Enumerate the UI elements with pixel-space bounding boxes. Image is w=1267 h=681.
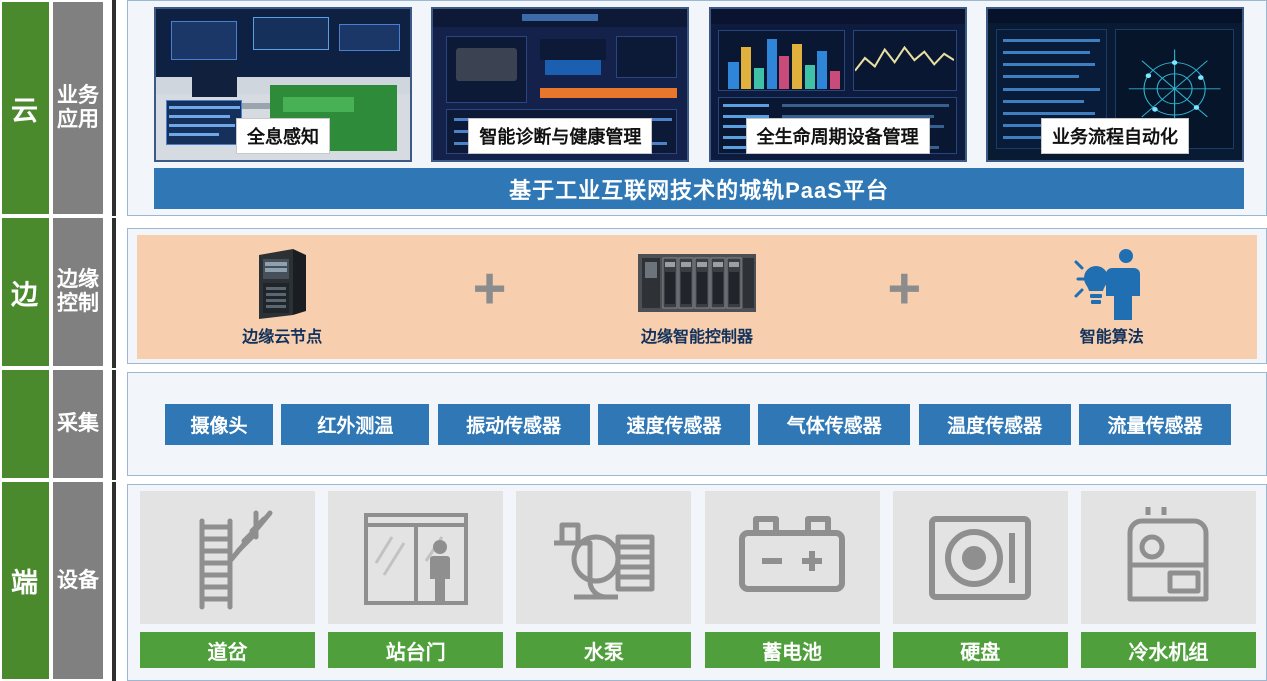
tier-sub-column-device: 设备 (51, 480, 105, 681)
sensor-chip-flow-sensor[interactable]: 流量传感器 (1079, 404, 1231, 445)
spine-bar-collect (112, 370, 116, 480)
tier-sub-column-edge: 边缘控制 (51, 216, 105, 368)
plus-separator-2: + (887, 260, 921, 334)
application-cards: 全息感知 (154, 7, 1244, 162)
sensor-chip-label-speed-sensor: 速度传感器 (626, 416, 721, 437)
device-layer-panel: 道岔 (127, 484, 1267, 681)
plc-module-icon (597, 247, 797, 321)
paas-platform-bar: 基于工业互联网技术的城轨PaaS平台 (154, 168, 1244, 209)
device-label-chiller-unit: 冷水机组 (1081, 632, 1256, 668)
device-cell-water-pump[interactable]: 水泵 (516, 491, 691, 668)
sensor-chip-label-camera: 摄像头 (190, 416, 247, 437)
battery-icon (705, 491, 880, 624)
edge-item-smart-algorithm[interactable]: 智能算法 (1012, 247, 1212, 347)
hard-disk-icon (893, 491, 1068, 624)
device-cells-row: 道岔 (140, 491, 1256, 668)
sensor-chip-label-gas-sensor: 气体传感器 (787, 416, 882, 437)
tier-column-collect (0, 368, 51, 480)
tier-sub-column-cloud: 业务应用 (51, 0, 105, 216)
app-card-label-process-automation: 业务流程自动化 (1041, 118, 1189, 154)
device-label-battery: 蓄电池 (705, 632, 880, 668)
collect-layer-panel: 摄像头 红外测温 振动传感器 速度传感器 气体传感器 温度传感器 流量传感器 (127, 372, 1267, 476)
edge-item-label-edge-controller: 边缘智能控制器 (597, 323, 797, 347)
device-cell-hard-disk[interactable]: 硬盘 (893, 491, 1068, 668)
idea-person-icon (1012, 247, 1212, 321)
device-cell-turnout[interactable]: 道岔 (140, 491, 315, 668)
tier-column-edge: 边 (0, 216, 51, 368)
app-card-label-lifecycle-equipment: 全生命周期设备管理 (746, 118, 930, 154)
sensor-chip-label-flow-sensor: 流量传感器 (1107, 416, 1202, 437)
railway-switch-icon (140, 491, 315, 624)
sensor-chip-label-vibration-sensor: 振动传感器 (466, 416, 561, 437)
paas-platform-label: 基于工业互联网技术的城轨PaaS平台 (509, 173, 889, 205)
sensor-chip-label-infrared-temperature: 红外测温 (317, 416, 393, 437)
tier-sub-label-cloud: 业务应用 (55, 84, 101, 131)
sensor-chip-camera[interactable]: 摄像头 (165, 404, 273, 445)
sensor-chip-infrared-temperature[interactable]: 红外测温 (281, 404, 429, 445)
device-label-water-pump: 水泵 (516, 632, 691, 668)
sensor-chip-label-temperature-sensor: 温度传感器 (947, 416, 1042, 437)
server-cabinet-icon (182, 247, 382, 321)
plus-separator-1: + (473, 260, 507, 334)
device-cell-chiller-unit[interactable]: 冷水机组 (1081, 491, 1256, 668)
tier-sub-label-device: 设备 (57, 569, 99, 593)
device-label-platform-door: 站台门 (328, 632, 503, 668)
sensor-chip-row: 摄像头 红外测温 振动传感器 速度传感器 气体传感器 温度传感器 流量传感器 (165, 404, 1231, 445)
architecture-diagram: 云 业务应用 边 边缘控制 采集 端 设备 (0, 0, 1267, 681)
device-label-turnout: 道岔 (140, 632, 315, 668)
tier-label-edge: 边 (11, 273, 40, 312)
app-card-holographic-sensing[interactable]: 全息感知 (154, 7, 412, 162)
app-card-label-intelligent-diagnosis: 智能诊断与健康管理 (468, 118, 652, 154)
device-cell-platform-door[interactable]: 站台门 (328, 491, 503, 668)
edge-layer-panel: 边缘云节点 + (127, 228, 1267, 364)
sensor-chip-speed-sensor[interactable]: 速度传感器 (598, 404, 750, 445)
app-card-label-holographic-sensing: 全息感知 (236, 118, 330, 154)
spine-bar-device (112, 482, 116, 681)
tier-label-device: 端 (11, 561, 40, 600)
tier-sub-column-collect: 采集 (51, 368, 105, 480)
edge-items-row: 边缘云节点 + (137, 235, 1257, 359)
app-card-lifecycle-equipment[interactable]: 全生命周期设备管理 (709, 7, 967, 162)
platform-screen-door-icon (328, 491, 503, 624)
spine-bar-edge (112, 218, 116, 368)
pump-icon (516, 491, 691, 624)
device-label-hard-disk: 硬盘 (893, 632, 1068, 668)
edge-item-label-smart-algorithm: 智能算法 (1012, 323, 1212, 347)
tier-sub-label-collect: 采集 (57, 412, 99, 436)
app-card-intelligent-diagnosis[interactable]: 智能诊断与健康管理 (431, 7, 689, 162)
device-cell-battery[interactable]: 蓄电池 (705, 491, 880, 668)
edge-item-edge-cloud-node[interactable]: 边缘云节点 (182, 247, 382, 347)
tier-column-device: 端 (0, 480, 51, 681)
tier-column-cloud: 云 (0, 0, 51, 216)
sensor-chip-temperature-sensor[interactable]: 温度传感器 (919, 404, 1071, 445)
tier-sub-label-edge: 边缘控制 (55, 268, 101, 315)
edge-item-edge-controller[interactable]: 边缘智能控制器 (597, 247, 797, 347)
sensor-chip-gas-sensor[interactable]: 气体传感器 (758, 404, 910, 445)
edge-item-label-edge-cloud-node: 边缘云节点 (182, 323, 382, 347)
sensor-chip-vibration-sensor[interactable]: 振动传感器 (438, 404, 590, 445)
spine-bar-cloud (112, 0, 116, 216)
chiller-icon (1081, 491, 1256, 624)
app-card-process-automation[interactable]: 业务流程自动化 (986, 7, 1244, 162)
cloud-layer-panel: 全息感知 (127, 0, 1267, 216)
tier-label-cloud: 云 (11, 89, 40, 128)
